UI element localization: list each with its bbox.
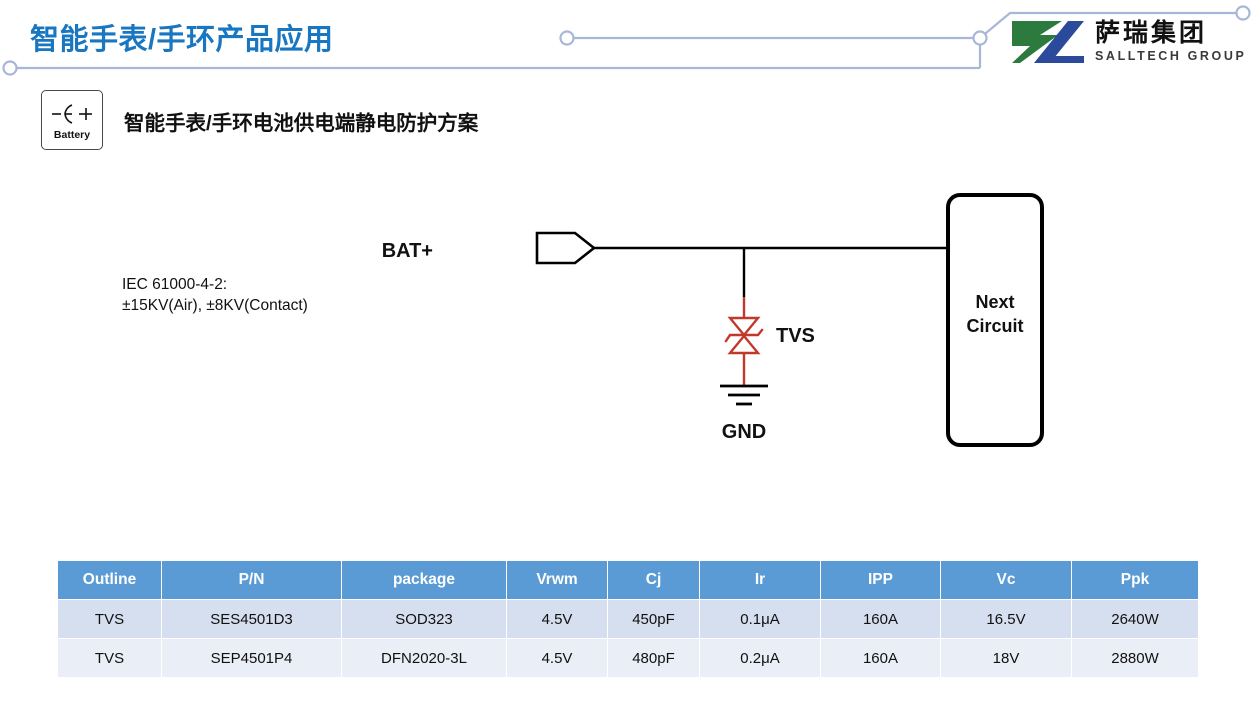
col-header-cj: Cj	[608, 561, 700, 600]
cell-ipp: 160A	[821, 600, 941, 639]
col-header-ir: Ir	[700, 561, 821, 600]
cell-package: DFN2020-3L	[342, 639, 507, 678]
cell-outline: TVS	[58, 639, 162, 678]
cell-ipp: 160A	[821, 639, 941, 678]
salltech-logo-icon	[1010, 18, 1086, 66]
col-header-vc: Vc	[941, 561, 1072, 600]
brand-logo: 萨瑞集团 SALLTECH GROUP	[1010, 18, 1246, 66]
cell-pn: SES4501D3	[162, 600, 342, 639]
section-subtitle: 智能手表/手环电池供电端静电防护方案	[124, 106, 478, 136]
cell-outline: TVS	[58, 600, 162, 639]
trace-node-mid	[561, 32, 574, 45]
bat-plus-label: BAT+	[382, 240, 433, 262]
cell-vrwm: 4.5V	[507, 639, 608, 678]
spec-table: Outline P/N package Vrwm Cj Ir IPP Vc Pp…	[57, 560, 1199, 678]
table-row: TVS SEP4501P4 DFN2020-3L 4.5V 480pF 0.2μ…	[58, 639, 1199, 678]
logo-en-name: SALLTECH GROUP	[1095, 50, 1246, 63]
cell-ppk: 2640W	[1072, 600, 1199, 639]
cell-cj: 480pF	[608, 639, 700, 678]
next-circuit-line1: Next	[975, 292, 1014, 312]
cell-ir: 0.1μA	[700, 600, 821, 639]
battery-badge: Battery	[41, 90, 103, 150]
cell-cj: 450pF	[608, 600, 700, 639]
cell-vc: 18V	[941, 639, 1072, 678]
ground-symbol	[720, 386, 768, 404]
cell-ir: 0.2μA	[700, 639, 821, 678]
col-header-pn: P/N	[162, 561, 342, 600]
cell-vc: 16.5V	[941, 600, 1072, 639]
battery-badge-label: Battery	[54, 129, 90, 141]
col-header-outline: Outline	[58, 561, 162, 600]
cell-ppk: 2880W	[1072, 639, 1199, 678]
cell-pn: SEP4501P4	[162, 639, 342, 678]
trace-node-left	[4, 62, 17, 75]
tvs-diode-symbol	[726, 318, 762, 353]
circuit-schematic: BAT+ TVS GND Next Circuit	[100, 175, 1100, 475]
gnd-label: GND	[722, 421, 766, 443]
table-row: TVS SES4501D3 SOD323 4.5V 450pF 0.1μA 16…	[58, 600, 1199, 639]
next-circuit-line2: Circuit	[966, 316, 1023, 336]
cell-vrwm: 4.5V	[507, 600, 608, 639]
col-header-ipp: IPP	[821, 561, 941, 600]
col-header-vrwm: Vrwm	[507, 561, 608, 600]
bat-connector-symbol	[537, 233, 594, 263]
logo-cn-name: 萨瑞集团	[1095, 21, 1207, 46]
col-header-package: package	[342, 561, 507, 600]
col-header-ppk: Ppk	[1072, 561, 1199, 600]
table-header-row: Outline P/N package Vrwm Cj Ir IPP Vc Pp…	[58, 561, 1199, 600]
battery-icon	[48, 102, 96, 126]
page-title: 智能手表/手环产品应用	[30, 16, 334, 58]
cell-package: SOD323	[342, 600, 507, 639]
trace-node-junction	[974, 32, 987, 45]
tvs-label: TVS	[776, 325, 815, 347]
